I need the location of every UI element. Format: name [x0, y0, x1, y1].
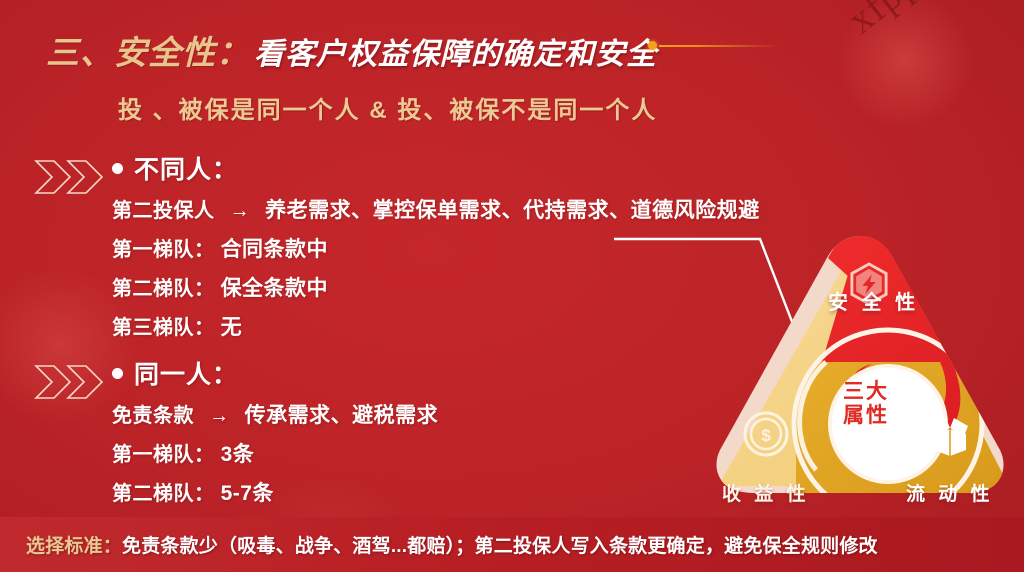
- line-value: 无: [221, 316, 243, 339]
- bullet-dot-icon: [112, 163, 123, 174]
- block-heading: 不同人：: [112, 150, 760, 186]
- line-label: 第三梯队：: [112, 317, 215, 339]
- bullet-dot-icon: [112, 368, 123, 379]
- line-label: 第二梯队：: [112, 483, 215, 505]
- bottom-summary-bar: 选择标准：免责条款少（吸毒、战争、酒驾...都赔）；第二投保人写入条款更确定，避…: [0, 517, 1024, 572]
- content-line: 第二投保人 → 养老需求、掌控保单需求、代持需求、道德风险规避: [112, 194, 760, 224]
- line-label: 第一梯队：: [112, 444, 215, 466]
- block-heading-label: 不同人：: [134, 150, 238, 186]
- line-label: 第二梯队：: [112, 278, 215, 300]
- chevron-marker-icon: [32, 157, 110, 197]
- page-title: 三、安全性： 看客户权益保障的确定和安全: [46, 26, 657, 74]
- title-decoration: [648, 41, 779, 50]
- line-value: 5-7条: [221, 482, 274, 505]
- diagram-label-yield: 收 益 性: [722, 479, 810, 506]
- content-line: 第二梯队： 5-7条: [112, 477, 438, 507]
- bottom-bar-prefix: 选择标准：: [26, 536, 122, 557]
- decoration-dot-icon: [648, 41, 657, 50]
- content-line: 第一梯队： 3条: [112, 438, 438, 468]
- diagram-label-liquidity: 流 动 性: [906, 479, 994, 506]
- bottom-bar-content: 选择标准：免责条款少（吸毒、战争、酒驾...都赔）；第二投保人写入条款更确定，避…: [26, 531, 878, 558]
- line-value: 3条: [221, 443, 255, 466]
- diagram-center-line1: 三大: [824, 380, 908, 404]
- arrow-right-icon: →: [209, 405, 230, 428]
- title-main: 看客户权益保障的确定和安全: [254, 29, 657, 73]
- subtitle: 投 、被保是同一个人 & 投、被保不是同一个人: [118, 90, 657, 125]
- line-label: 免责条款: [112, 405, 194, 427]
- line-label: 第一梯队：: [112, 239, 215, 261]
- diagram-center-line2: 属性: [824, 404, 908, 428]
- block-heading-label: 同一人：: [134, 355, 238, 391]
- diagram-label-security: 安 全 性: [828, 286, 919, 315]
- line-label: 第二投保人: [112, 200, 215, 222]
- coin-dollar-icon: $: [745, 413, 787, 455]
- slide-canvas: xfppt.com 三、安全性： 看客户权益保障的确定和安全 投 、被保是同一个…: [0, 0, 1024, 572]
- block-heading: 同一人：: [112, 355, 438, 391]
- line-value: 合同条款中: [221, 238, 329, 261]
- line-value: 养老需求、掌控保单需求、代持需求、道德风险规避: [265, 199, 760, 222]
- line-value: 保全条款中: [221, 277, 329, 300]
- title-prefix: 三、安全性：: [46, 26, 250, 74]
- arrow-right-icon: →: [230, 200, 251, 223]
- decoration-line: [659, 45, 779, 47]
- svg-text:$: $: [761, 426, 771, 445]
- diagram-center-text: 三大 属性: [824, 380, 908, 428]
- bottom-bar-text: 免责条款少（吸毒、战争、酒驾...都赔）；第二投保人写入条款更确定，避免保全规则…: [122, 536, 878, 557]
- line-value: 传承需求、避税需求: [245, 404, 439, 427]
- three-attributes-diagram: $: [700, 228, 1020, 506]
- content-line: 免责条款 → 传承需求、避税需求: [112, 399, 438, 429]
- watermark-text: xfppt.com: [838, 0, 1003, 43]
- chevron-marker-icon: [32, 362, 110, 402]
